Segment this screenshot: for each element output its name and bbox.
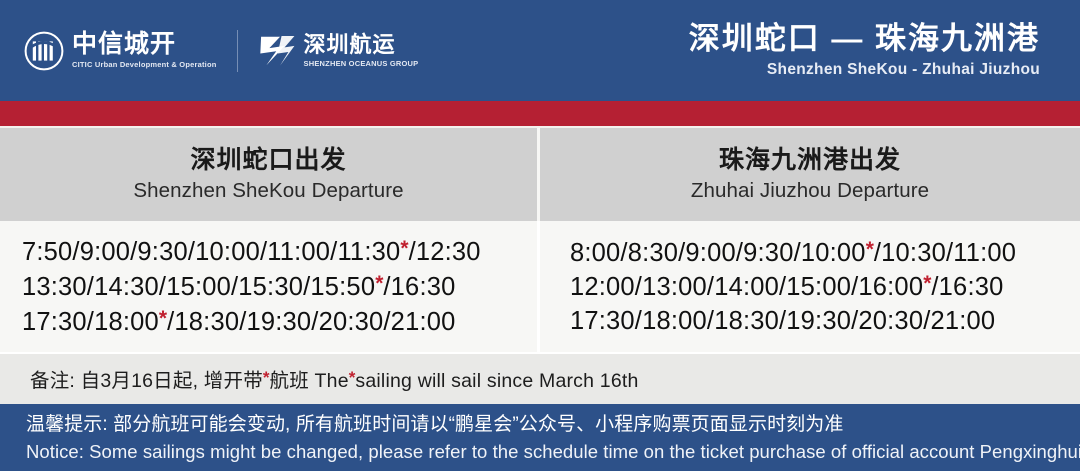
route-title-cn: 深圳蛇口 — 珠海九洲港 bbox=[689, 22, 1040, 57]
citic-logo-icon bbox=[24, 31, 64, 71]
schedule-time-line: 17:30/18:00/18:30/19:30/20:30/21:00 bbox=[570, 305, 1080, 339]
notice-text-cn: 温馨提示: 部分航班可能会变动, 所有航班时间请以“鹏星会”公众号、小程序购票页… bbox=[26, 413, 1080, 438]
brand-oceanus-cn: 深圳航运 bbox=[304, 34, 419, 56]
poster-header: 中信城开 CITIC Urban Development & Operation… bbox=[0, 0, 1080, 101]
column-header-shekou: 深圳蛇口出发 Shenzhen SheKou Departure bbox=[0, 128, 540, 221]
column-header-jiuzhou-cn: 珠海九洲港出发 bbox=[719, 146, 901, 175]
schedule-time-line: 8:00/8:30/9:00/9:30/10:00*/10:30/11:00 bbox=[570, 236, 1080, 271]
route-title: 深圳蛇口 — 珠海九洲港 Shenzhen SheKou - Zhuhai Ji… bbox=[689, 22, 1058, 79]
ferry-schedule-poster: 中信城开 CITIC Urban Development & Operation… bbox=[0, 0, 1080, 471]
shenzhen-oceanus-logo-icon bbox=[258, 33, 296, 69]
brand-oceanus: 深圳航运 SHENZHEN OCEANUS GROUP bbox=[258, 33, 419, 69]
remark-text: 备注: 自3月16日起, 增开带*航班 The*sailing will sai… bbox=[30, 364, 639, 393]
asterisk-marker: * bbox=[263, 368, 270, 387]
notice-bar: 温馨提示: 部分航班可能会变动, 所有航班时间请以“鹏星会”公众号、小程序购票页… bbox=[0, 404, 1080, 471]
asterisk-marker: * bbox=[400, 237, 408, 260]
asterisk-marker: * bbox=[349, 368, 356, 387]
red-divider-bar bbox=[0, 101, 1080, 128]
notice-text-en: Notice: Some sailings might be changed, … bbox=[26, 440, 1080, 464]
schedule-header-row: 深圳蛇口出发 Shenzhen SheKou Departure 珠海九洲港出发… bbox=[0, 128, 1080, 221]
route-title-en: Shenzhen SheKou - Zhuhai Jiuzhou bbox=[689, 61, 1040, 79]
schedule-time-line: 7:50/9:00/9:30/10:00/11:00/11:30*/12:30 bbox=[22, 235, 537, 270]
asterisk-marker: * bbox=[375, 272, 383, 295]
column-header-shekou-cn: 深圳蛇口出发 bbox=[190, 146, 346, 175]
column-header-jiuzhou-en: Zhuhai Jiuzhou Departure bbox=[691, 179, 929, 203]
asterisk-marker: * bbox=[923, 272, 931, 295]
schedule-times-row: 7:50/9:00/9:30/10:00/11:00/11:30*/12:301… bbox=[0, 221, 1080, 352]
schedule-table: 深圳蛇口出发 Shenzhen SheKou Departure 珠海九洲港出发… bbox=[0, 128, 1080, 352]
brand-citic-en: CITIC Urban Development & Operation bbox=[72, 61, 217, 69]
brand-oceanus-text: 深圳航运 SHENZHEN OCEANUS GROUP bbox=[304, 34, 419, 68]
schedule-time-line: 17:30/18:00*/18:30/19:30/20:30/21:00 bbox=[22, 305, 537, 340]
column-header-shekou-en: Shenzhen SheKou Departure bbox=[133, 179, 403, 203]
brand-citic-cn: 中信城开 bbox=[72, 32, 217, 57]
schedule-times-jiuzhou: 8:00/8:30/9:00/9:30/10:00*/10:30/11:0012… bbox=[540, 221, 1080, 352]
remark-row: 备注: 自3月16日起, 增开带*航班 The*sailing will sai… bbox=[0, 352, 1080, 404]
brand-citic-text: 中信城开 CITIC Urban Development & Operation bbox=[72, 32, 217, 69]
schedule-time-line: 13:30/14:30/15:00/15:30/15:50*/16:30 bbox=[22, 270, 537, 305]
brand-divider bbox=[237, 30, 238, 72]
asterisk-marker: * bbox=[866, 238, 874, 261]
asterisk-marker: * bbox=[159, 307, 167, 330]
brand-oceanus-en: SHENZHEN OCEANUS GROUP bbox=[304, 60, 419, 68]
schedule-time-line: 12:00/13:00/14:00/15:00/16:00*/16:30 bbox=[570, 270, 1080, 305]
brand-citic: 中信城开 CITIC Urban Development & Operation bbox=[24, 31, 217, 71]
brand-logos: 中信城开 CITIC Urban Development & Operation… bbox=[24, 30, 418, 72]
column-header-jiuzhou: 珠海九洲港出发 Zhuhai Jiuzhou Departure bbox=[540, 128, 1080, 221]
schedule-times-shekou: 7:50/9:00/9:30/10:00/11:00/11:30*/12:301… bbox=[0, 221, 540, 352]
